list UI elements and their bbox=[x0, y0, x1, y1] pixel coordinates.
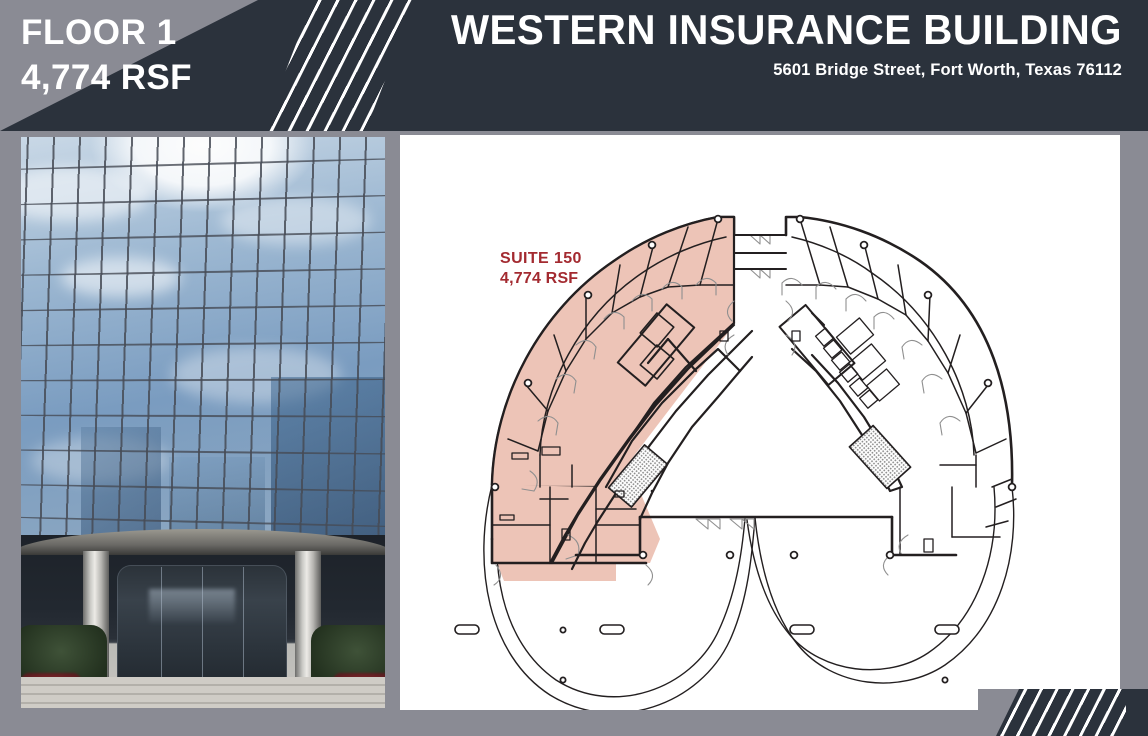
flyer-page: FLOOR 1 4,774 RSF WESTERN INSURANCE BUIL… bbox=[0, 0, 1148, 736]
lobe-piers bbox=[455, 625, 959, 634]
top-window-symbols bbox=[750, 235, 770, 278]
page-title: WESTERN INSURANCE BUILDING bbox=[451, 6, 1122, 54]
page-header: FLOOR 1 4,774 RSF WESTERN INSURANCE BUIL… bbox=[0, 0, 1148, 131]
building-address: 5601 Bridge Street, Fort Worth, Texas 76… bbox=[773, 61, 1122, 80]
footer-corner-accent bbox=[978, 689, 1148, 736]
floorplan-drawing bbox=[400, 135, 1120, 710]
entrance-steps bbox=[21, 677, 385, 708]
building-photo bbox=[21, 137, 385, 708]
suite-rsf: 4,774 RSF bbox=[500, 269, 582, 289]
right-core bbox=[780, 305, 911, 491]
floor-label: FLOOR 1 bbox=[21, 14, 177, 52]
suite-name: SUITE 150 bbox=[500, 249, 582, 269]
floor-rsf-label: 4,774 RSF bbox=[21, 59, 192, 97]
right-wing-partitions bbox=[786, 219, 1016, 555]
suite-label-group: SUITE 150 4,774 RSF bbox=[500, 249, 582, 288]
floorplan-panel: SUITE 150 4,774 RSF bbox=[400, 135, 1120, 710]
photo-horizontal-mullions bbox=[21, 137, 385, 567]
